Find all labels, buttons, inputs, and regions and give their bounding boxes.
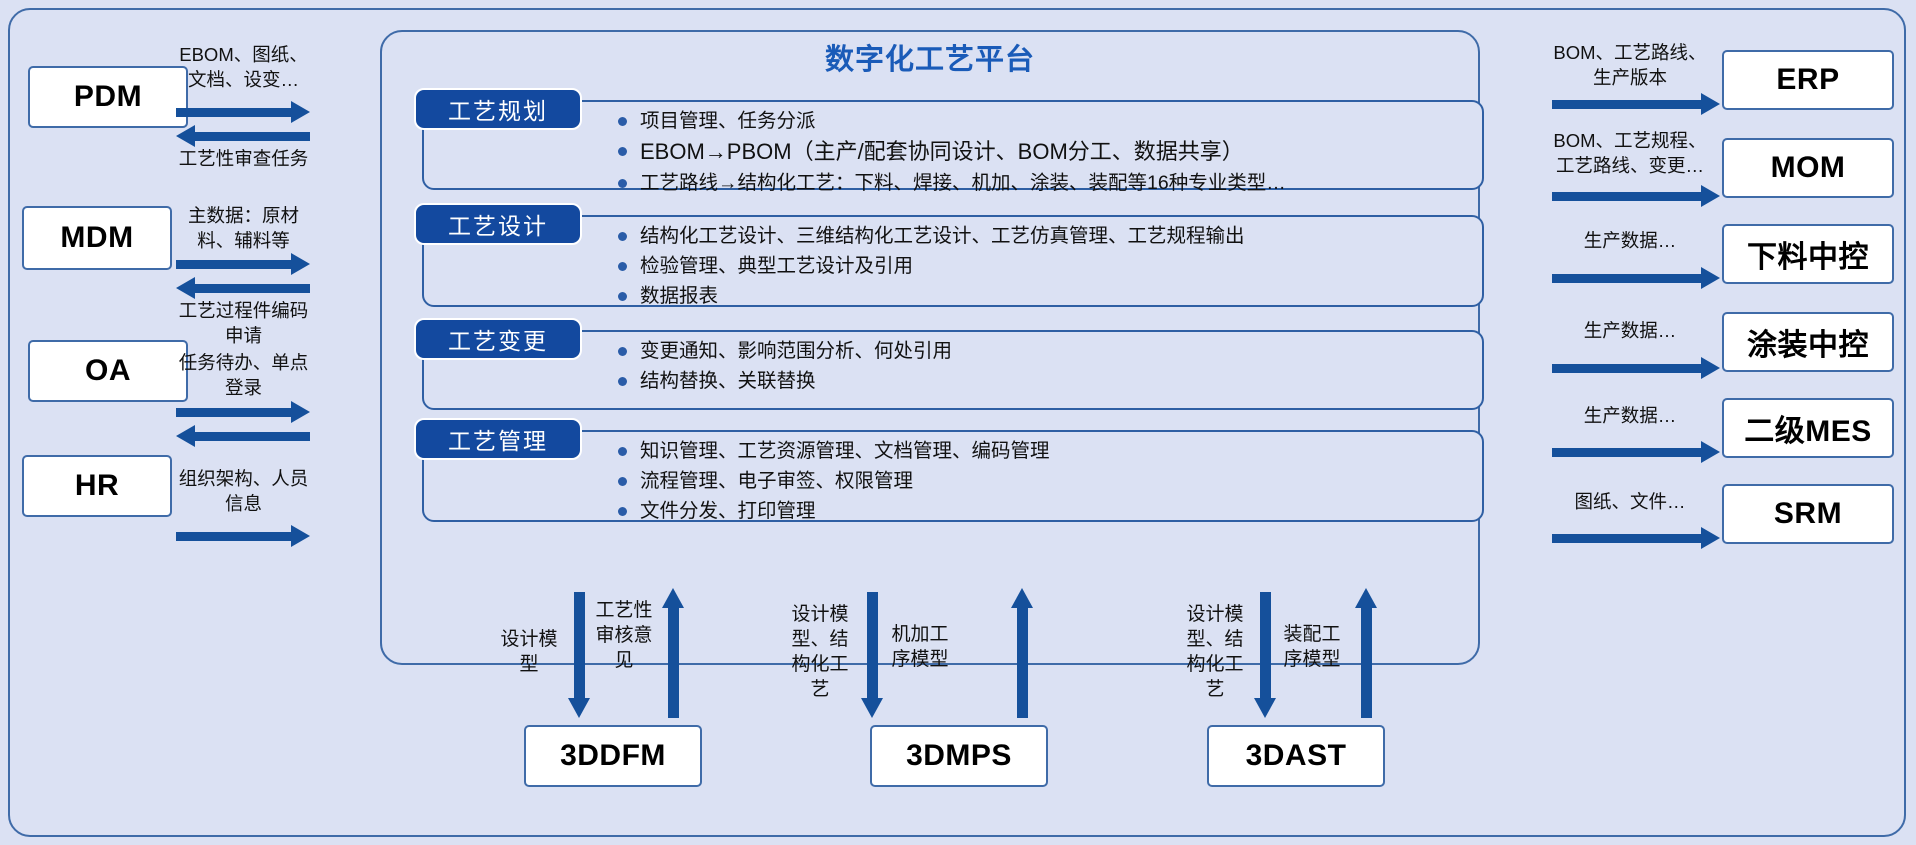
module-gongyisheji[interactable]: 工艺设计 结构化工艺设计、三维结构化工艺设计、工艺仿真管理、工艺规程输出 检验管…: [422, 215, 1484, 307]
flow-label-3ddfm-down: 设计模型: [494, 627, 564, 677]
system-box-oa[interactable]: OA: [28, 340, 188, 402]
system-box-mom[interactable]: MOM: [1722, 138, 1894, 198]
flow-arrow-mdm-out: [176, 258, 310, 271]
flow-arrow-srm: [1552, 532, 1720, 545]
system-box-label: 3DMPS: [906, 739, 1012, 773]
flow-arrow-tuzhuangzhongkong: [1552, 362, 1720, 375]
system-box-label: 二级MES: [1744, 406, 1872, 450]
system-box-label: 3DDFM: [560, 739, 666, 773]
module-tag-label: 工艺变更: [414, 318, 582, 360]
module-tag-label: 工艺规划: [414, 88, 582, 130]
system-box-tuzhuangzhongkong[interactable]: 涂装中控: [1722, 312, 1894, 372]
module-bullet-list: 项目管理、任务分派 EBOM→PBOM（主产/配套协同设计、BOM分工、数据共享…: [614, 106, 1474, 198]
module-bullet-list: 结构化工艺设计、三维结构化工艺设计、工艺仿真管理、工艺规程输出 检验管理、典型工…: [614, 221, 1474, 311]
flow-label-mdm-out: 主数据：原材料、辅料等: [176, 203, 311, 253]
flow-arrow-oa-in: [176, 430, 310, 443]
system-box-srm[interactable]: SRM: [1722, 484, 1894, 544]
module-bullet-list: 变更通知、影响范围分析、何处引用 结构替换、关联替换: [614, 336, 1474, 396]
flow-arrow-pdm-in: [176, 130, 310, 143]
module-bullet: 工艺路线→结构化工艺：下料、焊接、机加、涂装、装配等16种专业类型…: [614, 168, 1474, 198]
flow-label-pdm-out: EBOM、图纸、文档、设变…: [176, 42, 311, 92]
flow-arrow-3dmps-up: [1014, 588, 1030, 720]
platform-title: 数字化工艺平台: [380, 36, 1480, 78]
flow-arrow-3ddfm-up: [665, 588, 681, 720]
module-bullet: 检验管理、典型工艺设计及引用: [614, 251, 1474, 281]
flow-arrow-pdm-out: [176, 106, 310, 119]
flow-arrow-3ddfm-down: [571, 592, 587, 720]
flow-label-xialiaozhongkong: 生产数据…: [1550, 228, 1710, 253]
system-box-label: 下料中控: [1747, 232, 1869, 276]
flow-label-srm: 图纸、文件…: [1550, 489, 1710, 514]
flow-label-3dast-down: 设计模型、结构化工艺: [1179, 602, 1251, 702]
module-bullet: EBOM→PBOM（主产/配套协同设计、BOM分工、数据共享）: [614, 136, 1474, 168]
module-bullet: 结构替换、关联替换: [614, 366, 1474, 396]
system-box-xialiaozhongkong[interactable]: 下料中控: [1722, 224, 1894, 284]
flow-arrow-erjimes: [1552, 446, 1720, 459]
system-box-label: OA: [85, 354, 131, 388]
flow-label-erp: BOM、工艺路线、生产版本: [1550, 40, 1710, 90]
module-bullet: 变更通知、影响范围分析、何处引用: [614, 336, 1474, 366]
flow-label-tuzhuangzhongkong: 生产数据…: [1550, 318, 1710, 343]
module-gongyiguihua[interactable]: 工艺规划 项目管理、任务分派 EBOM→PBOM（主产/配套协同设计、BOM分工…: [422, 100, 1484, 190]
module-bullet-list: 知识管理、工艺资源管理、文档管理、编码管理 流程管理、电子审签、权限管理 文件分…: [614, 436, 1474, 526]
module-bullet: 知识管理、工艺资源管理、文档管理、编码管理: [614, 436, 1474, 466]
system-box-label: PDM: [74, 80, 142, 114]
system-box-pdm[interactable]: PDM: [28, 66, 188, 128]
system-box-label: 3DAST: [1246, 739, 1347, 773]
system-box-3ddfm[interactable]: 3DDFM: [524, 725, 702, 787]
flow-arrow-3dast-up: [1358, 588, 1374, 720]
module-gongyiguanli[interactable]: 工艺管理 知识管理、工艺资源管理、文档管理、编码管理 流程管理、电子审签、权限管…: [422, 430, 1484, 522]
system-box-3dast[interactable]: 3DAST: [1207, 725, 1385, 787]
system-box-3dmps[interactable]: 3DMPS: [870, 725, 1048, 787]
flow-arrow-xialiaozhongkong: [1552, 272, 1720, 285]
flow-arrow-3dast-down: [1257, 592, 1273, 720]
module-bullet: 项目管理、任务分派: [614, 106, 1474, 136]
flow-label-erjimes: 生产数据…: [1550, 403, 1710, 428]
flow-arrow-hr-out: [176, 530, 310, 543]
system-box-label: SRM: [1774, 497, 1842, 531]
system-box-hr[interactable]: HR: [22, 455, 172, 517]
flow-arrow-erp: [1552, 98, 1720, 111]
system-box-label: 涂装中控: [1747, 320, 1869, 364]
flow-arrow-mdm-in: [176, 282, 310, 295]
flow-label-3dast-up: 装配工序模型: [1276, 622, 1348, 672]
flow-label-hr-out: 组织架构、人员信息: [176, 466, 311, 516]
system-box-mdm[interactable]: MDM: [22, 206, 172, 270]
system-box-erjimes[interactable]: 二级MES: [1722, 398, 1894, 458]
flow-label-mom: BOM、工艺规程、工艺路线、变更…: [1550, 128, 1710, 178]
flow-label-3dmps-down: 设计模型、结构化工艺: [784, 602, 856, 702]
system-box-label: ERP: [1776, 63, 1839, 97]
system-box-label: MOM: [1771, 151, 1846, 185]
flow-label-mdm-in: 工艺过程件编码申请: [176, 298, 311, 348]
flow-label-3ddfm-up: 工艺性审核意见: [590, 598, 658, 673]
module-bullet: 数据报表: [614, 281, 1474, 311]
flow-label-pdm-in: 工艺性审查任务: [176, 146, 311, 171]
module-tag-label: 工艺管理: [414, 418, 582, 460]
module-bullet: 文件分发、打印管理: [614, 496, 1474, 526]
system-box-label: MDM: [60, 221, 133, 255]
flow-arrow-3dmps-down: [864, 592, 880, 720]
system-box-label: HR: [75, 469, 119, 503]
flow-label-3dmps-up: 机加工序模型: [884, 622, 956, 672]
module-gongyibiangeng[interactable]: 工艺变更 变更通知、影响范围分析、何处引用 结构替换、关联替换: [422, 330, 1484, 410]
module-bullet: 流程管理、电子审签、权限管理: [614, 466, 1474, 496]
flow-arrow-oa-out: [176, 406, 310, 419]
flow-label-oa-out: 任务待办、单点登录: [176, 350, 311, 400]
flow-arrow-mom: [1552, 190, 1720, 203]
module-tag-label: 工艺设计: [414, 203, 582, 245]
module-bullet: 结构化工艺设计、三维结构化工艺设计、工艺仿真管理、工艺规程输出: [614, 221, 1474, 251]
system-box-erp[interactable]: ERP: [1722, 50, 1894, 110]
